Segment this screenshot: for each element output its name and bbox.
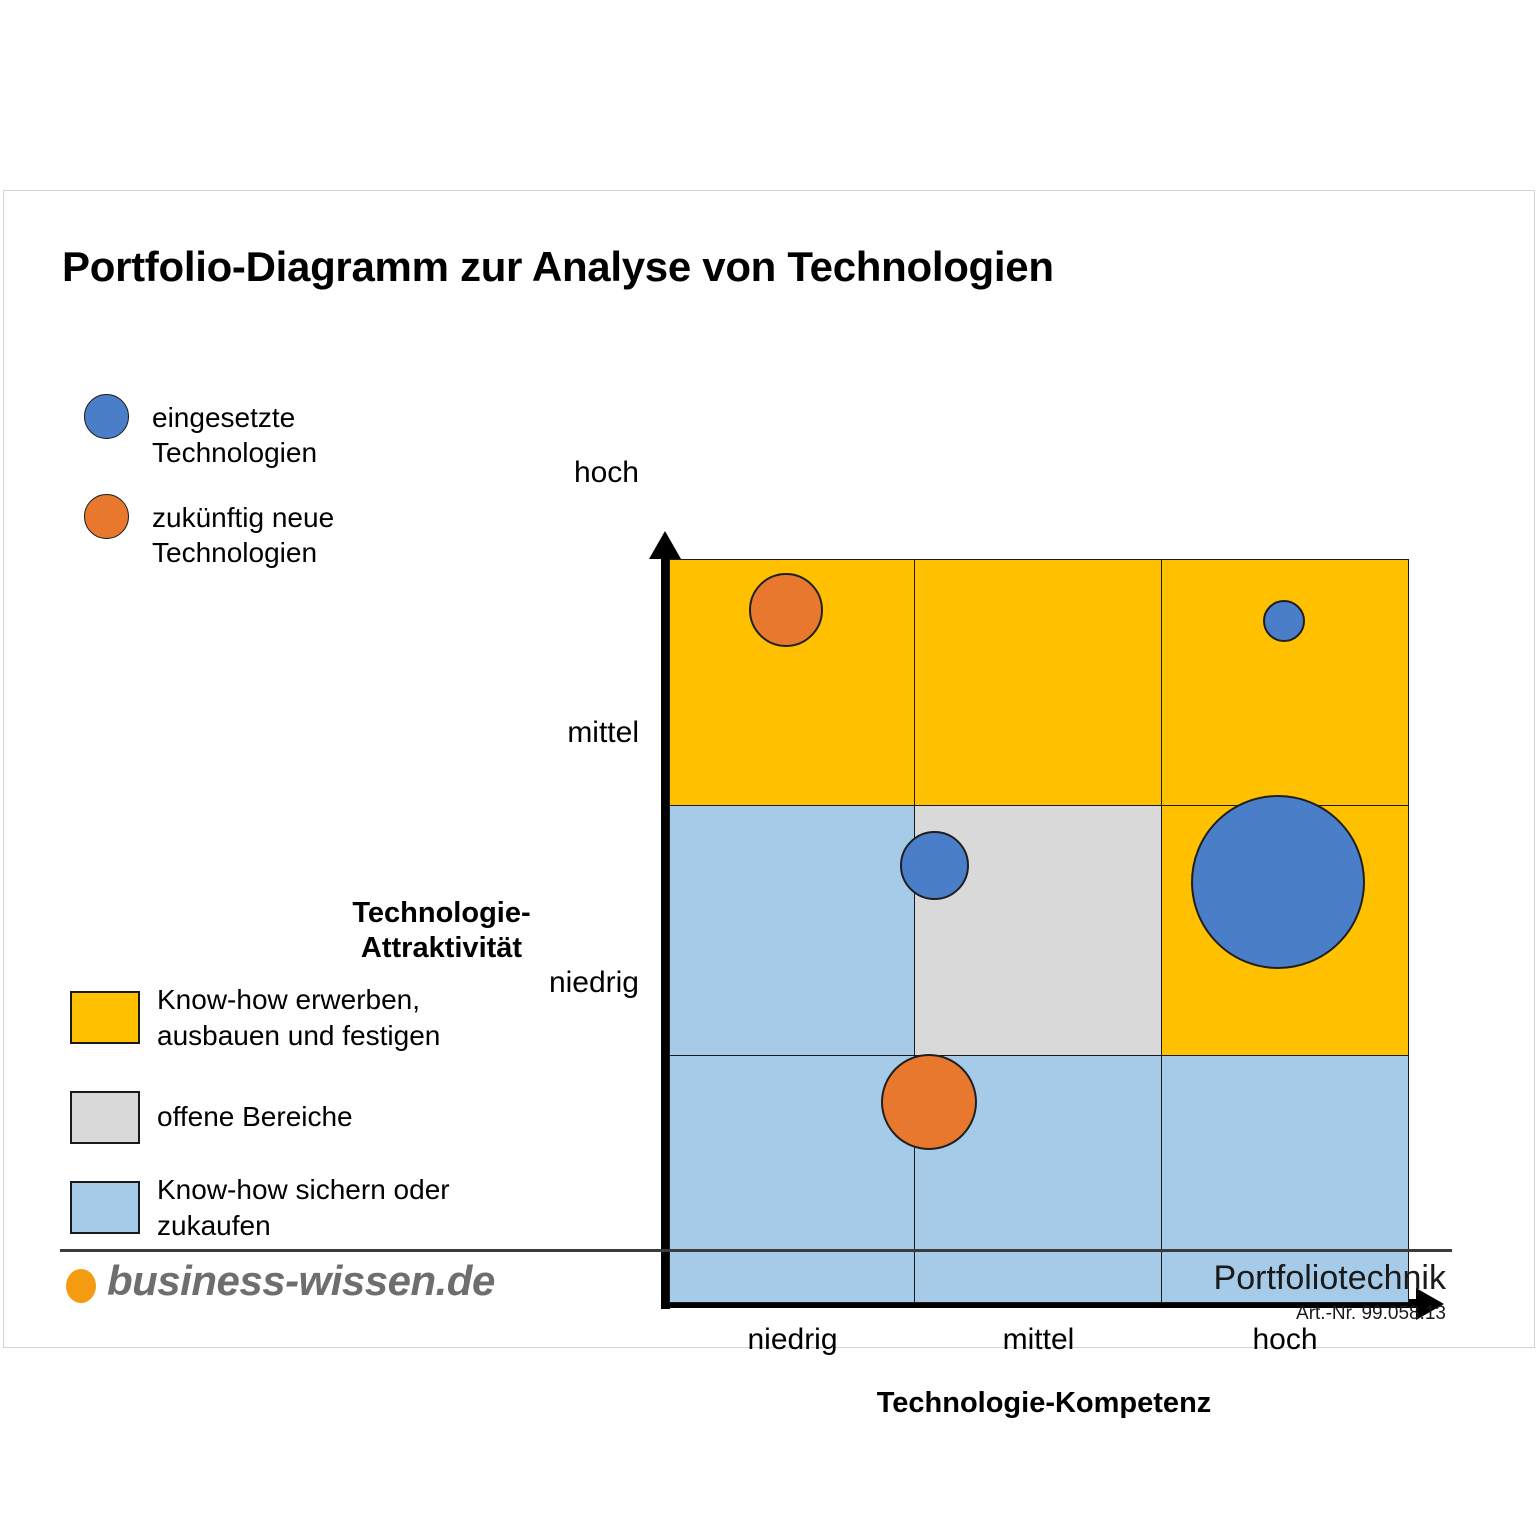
bubble-eingesetzte-hoch-hoch[interactable]	[1263, 600, 1305, 642]
bubble-eingesetzte-mittel-hoch[interactable]	[1191, 795, 1365, 969]
footer-doc-title: Portfoliotechnik	[1214, 1259, 1446, 1298]
matrix-cell-niedrig-niedrig[interactable]	[669, 1055, 916, 1303]
y-axis-ticks: hoch mittel niedrig	[434, 191, 639, 1291]
legend-label-line1: zukünftig neue	[152, 502, 334, 533]
logo-dot-icon	[66, 1269, 96, 1303]
color-legend-label-line1: Know-how erwerben,	[157, 984, 420, 1015]
portfolio-matrix	[669, 559, 1409, 1303]
orange-bubble-icon	[84, 494, 129, 539]
footer-divider	[60, 1249, 1452, 1252]
bubble-zukuenftig-niedrig-mittel[interactable]	[881, 1054, 977, 1150]
bubble-eingesetzte-mittel-mittel[interactable]	[900, 831, 969, 900]
color-legend-label-line2: zukaufen	[157, 1210, 271, 1241]
bubble-zukuenftig-hoch-niedrig[interactable]	[749, 573, 823, 647]
color-legend-label-line1: offene Bereiche	[157, 1099, 353, 1135]
matrix-cell-hoch-hoch[interactable]	[1161, 559, 1409, 807]
color-legend-label-line2: ausbauen und festigen	[157, 1020, 440, 1051]
grey-swatch-icon	[70, 1091, 140, 1144]
y-tick-hoch: hoch	[574, 456, 639, 490]
y-tick-niedrig: niedrig	[549, 966, 639, 1000]
x-tick-hoch: hoch	[1161, 1323, 1409, 1357]
matrix-cell-mittel-niedrig[interactable]	[669, 805, 916, 1057]
blue-bubble-icon	[84, 394, 129, 439]
slide-canvas: Portfolio-Diagramm zur Analyse von Techn…	[3, 190, 1535, 1348]
y-axis-title: Technologie-Attraktivität	[339, 896, 544, 966]
x-tick-mittel: mittel	[914, 1323, 1163, 1357]
matrix-cell-hoch-mittel[interactable]	[914, 559, 1163, 807]
yellow-swatch-icon	[70, 991, 140, 1044]
y-tick-mittel: mittel	[567, 716, 639, 750]
color-legend-label-line1: Know-how sichern oder	[157, 1174, 450, 1205]
legend-label-line1: eingesetzte	[152, 402, 295, 433]
x-tick-niedrig: niedrig	[669, 1323, 916, 1357]
legend-label-line2: Technologien	[152, 437, 317, 468]
brand-logo: business-wissen.de	[107, 1257, 495, 1305]
x-axis-title: Technologie-Kompetenz	[794, 1387, 1294, 1420]
blue-swatch-icon	[70, 1181, 140, 1234]
footer-article-number: Art.-Nr. 99.058.13	[1296, 1303, 1446, 1325]
legend-label-line2: Technologien	[152, 537, 317, 568]
